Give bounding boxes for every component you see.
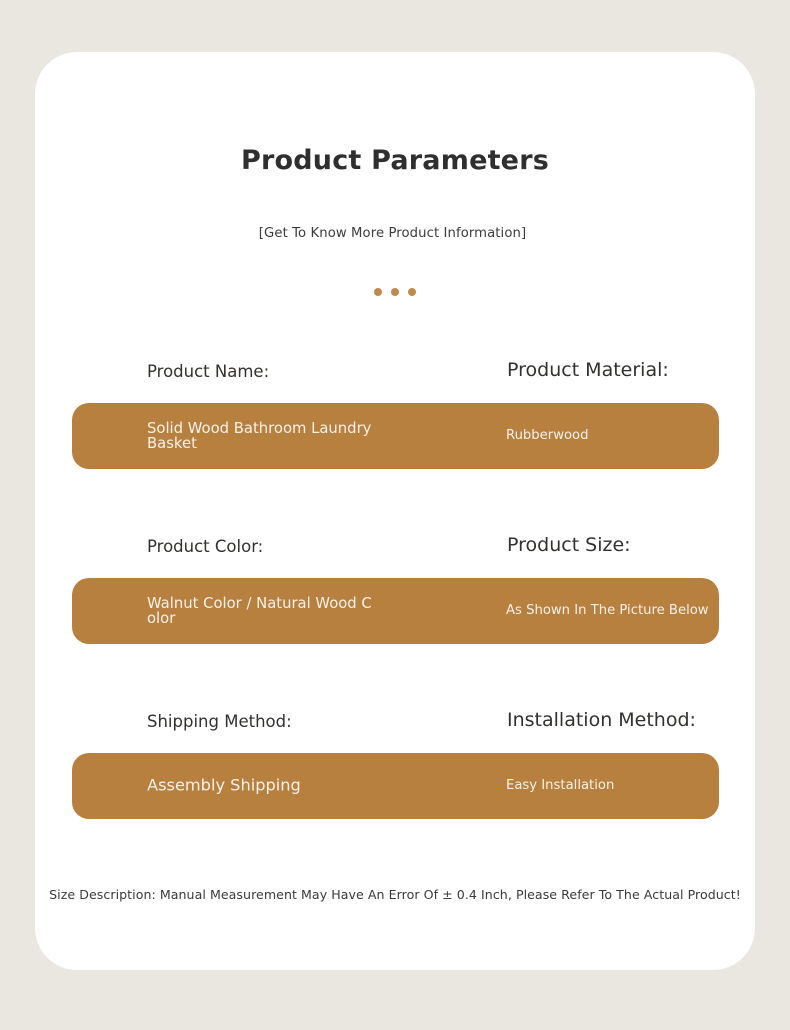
page-title: Product Parameters bbox=[35, 145, 755, 176]
parameter-label-product-name: Product Name: bbox=[147, 362, 269, 381]
parameter-label-shipping-method: Shipping Method: bbox=[147, 712, 292, 731]
size-description-note: Size Description: Manual Measurement May… bbox=[35, 887, 755, 902]
product-parameters-page: Product Parameters [Get To Know More Pro… bbox=[0, 0, 790, 1030]
parameter-value-product-material: Rubberwood bbox=[506, 428, 756, 445]
parameter-row: Product Name: Product Material: Solid Wo… bbox=[35, 352, 755, 482]
parameter-value-bar: Solid Wood Bathroom Laundry Basket Rubbe… bbox=[72, 403, 719, 469]
parameters-card: Product Parameters [Get To Know More Pro… bbox=[35, 52, 755, 970]
parameter-label-product-size: Product Size: bbox=[507, 534, 631, 556]
parameter-value-product-color: Walnut Color / Natural Wood Color bbox=[147, 596, 377, 626]
parameter-value-bar: Assembly Shipping Easy Installation bbox=[72, 753, 719, 819]
parameter-value-product-name: Solid Wood Bathroom Laundry Basket bbox=[147, 421, 377, 451]
divider-dot-icon bbox=[391, 288, 399, 296]
parameter-label-installation-method: Installation Method: bbox=[507, 709, 696, 731]
parameter-row: Shipping Method: Installation Method: As… bbox=[35, 702, 755, 832]
divider-dot-icon bbox=[374, 288, 382, 296]
dot-divider bbox=[35, 288, 755, 296]
parameter-value-shipping-method: Assembly Shipping bbox=[147, 778, 377, 795]
parameter-value-bar: Walnut Color / Natural Wood Color As Sho… bbox=[72, 578, 719, 644]
parameter-row: Product Color: Product Size: Walnut Colo… bbox=[35, 527, 755, 657]
parameter-label-product-material: Product Material: bbox=[507, 359, 669, 381]
parameter-value-installation-method: Easy Installation bbox=[506, 778, 756, 795]
parameter-value-product-size: As Shown In The Picture Below bbox=[506, 603, 756, 620]
divider-dot-icon bbox=[408, 288, 416, 296]
parameter-label-product-color: Product Color: bbox=[147, 537, 263, 556]
page-subtitle: [Get To Know More Product Information] bbox=[35, 226, 750, 241]
